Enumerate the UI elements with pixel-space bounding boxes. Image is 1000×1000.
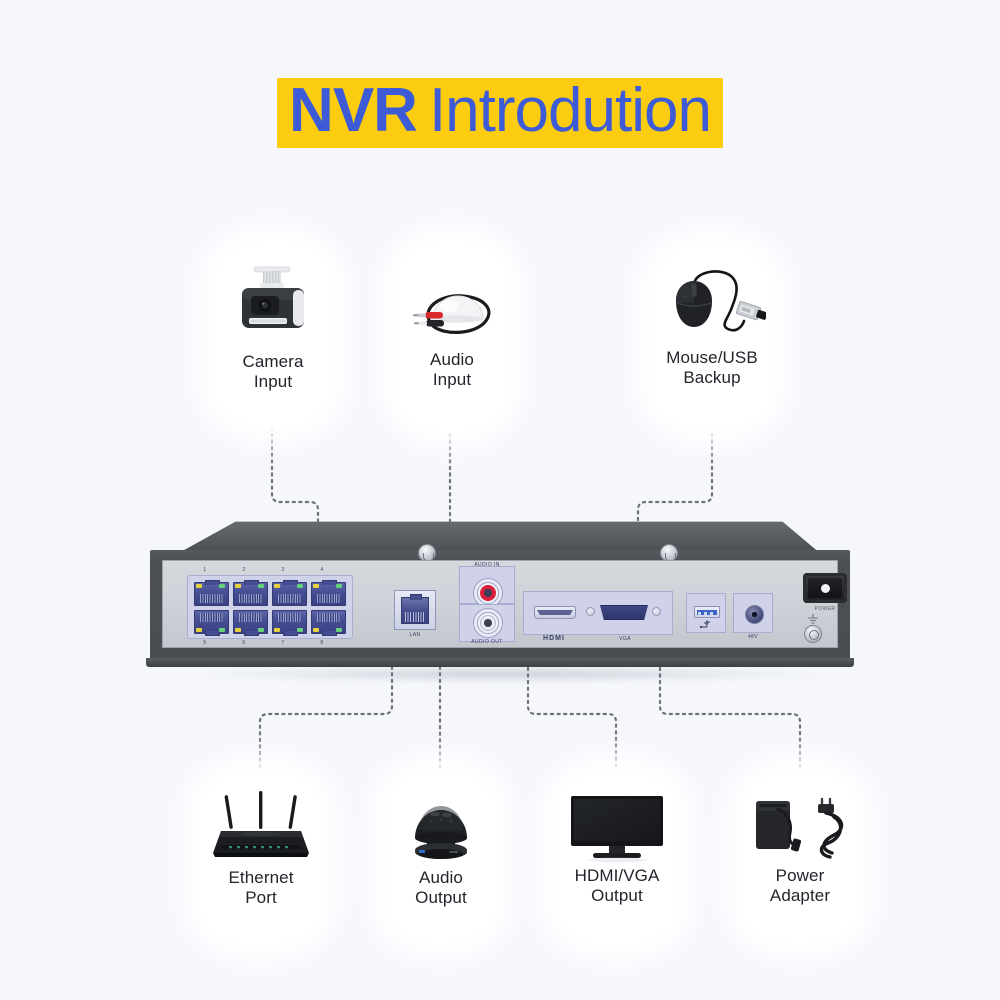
callout-label-hdmi-vga-output: HDMI/VGA Output (575, 866, 660, 906)
audio-in-block[interactable] (459, 566, 515, 604)
title-light-text: Introdution (417, 76, 711, 145)
ground-terminal-screw (804, 625, 822, 643)
vga-screw-right (652, 607, 661, 616)
lan-port-label: LAN (394, 632, 436, 638)
callout-label-audio-input: Audio Input (430, 350, 474, 390)
callout-audio-input[interactable]: Audio Input (396, 240, 508, 432)
callout-label-line1: HDMI/VGA (575, 866, 660, 886)
callout-label-line2: Output (415, 888, 467, 908)
callout-label-line1: Audio (415, 868, 467, 888)
audio-out-label: AUDIO OUT (457, 639, 517, 645)
dc-power-jack[interactable] (745, 605, 764, 624)
monitor-icon (556, 788, 678, 866)
callout-label-line1: Camera (242, 352, 303, 372)
callout-ethernet-port[interactable]: Ethernet Port (200, 770, 322, 946)
computer-mouse-icon (652, 262, 772, 348)
bullet-camera-icon (214, 254, 332, 352)
wifi-router-icon (200, 786, 322, 868)
callout-label-line1: Ethernet (228, 868, 293, 888)
callout-label-power-adapter: Power Adapter (770, 866, 830, 906)
callout-label-line2: Port (228, 888, 293, 908)
title-highlight: NVRIntrodution (277, 78, 723, 148)
power-switch-label: POWER (799, 606, 851, 612)
callout-label-ethernet-port: Ethernet Port (228, 868, 293, 908)
poe-label-4: 4 (313, 567, 331, 573)
dc-power-label: 48V (731, 634, 775, 640)
usb-port[interactable] (694, 606, 720, 618)
callout-label-line1: Power (770, 866, 830, 886)
callout-label-line2: Backup (666, 368, 758, 388)
callout-label-camera-input: Camera Input (242, 352, 303, 392)
callout-label-audio-output: Audio Output (415, 868, 467, 908)
callout-power-adapter[interactable]: Power Adapter (742, 770, 858, 944)
callout-camera-input[interactable]: Camera Input (214, 240, 332, 428)
poe-label-5: 5 (196, 640, 214, 646)
dome-microphone-icon (396, 260, 508, 350)
lan-port[interactable] (394, 590, 436, 630)
title-bold-text: NVR (289, 76, 417, 145)
nvr-port-panel: 1 2 3 4 5 6 7 8 LAN AUDIO IN (162, 560, 838, 648)
callout-label-line1: Audio (430, 350, 474, 370)
callout-hdmi-vga-output[interactable]: HDMI/VGA Output (556, 770, 678, 946)
vga-screw-left (586, 607, 595, 616)
poe-label-7: 7 (274, 640, 292, 646)
vga-port[interactable] (600, 605, 648, 620)
hdmi-port[interactable] (534, 606, 576, 619)
power-switch[interactable] (803, 573, 847, 603)
power-brick-icon (742, 786, 858, 866)
usb-trident-icon (700, 620, 714, 629)
callout-label-line2: Input (430, 370, 474, 390)
page-title: NVRIntrodution (0, 78, 1000, 150)
poe-label-3: 3 (274, 567, 292, 573)
poe-label-2: 2 (235, 567, 253, 573)
callout-label-mouse-usb-backup: Mouse/USB Backup (666, 348, 758, 388)
infographic-canvas: NVRIntrodution (0, 0, 1000, 1000)
audio-in-label: AUDIO IN (457, 562, 517, 568)
dc-power-block[interactable] (733, 593, 773, 633)
poe-label-8: 8 (313, 640, 331, 646)
hdmi-port-label: HDMI (523, 635, 585, 642)
callout-audio-output[interactable]: Audio Output (386, 770, 496, 944)
nvr-device: 1 2 3 4 5 6 7 8 LAN AUDIO IN (128, 520, 872, 680)
callout-label-line2: Output (575, 886, 660, 906)
audio-out-block[interactable] (459, 604, 515, 642)
callout-label-line1: Mouse/USB (666, 348, 758, 368)
poe-label-1: 1 (196, 567, 214, 573)
video-out-block[interactable] (523, 591, 673, 635)
poe-port-block[interactable] (187, 575, 353, 639)
callout-mouse-usb-backup[interactable]: Mouse/USB Backup (652, 244, 772, 430)
vga-port-label: VGA (601, 636, 649, 642)
callout-label-line2: Input (242, 372, 303, 392)
dome-speaker-icon (386, 784, 496, 868)
usb-port-block[interactable] (686, 593, 726, 633)
nvr-drop-shadow (188, 666, 828, 682)
callout-label-line2: Adapter (770, 886, 830, 906)
poe-label-6: 6 (235, 640, 253, 646)
